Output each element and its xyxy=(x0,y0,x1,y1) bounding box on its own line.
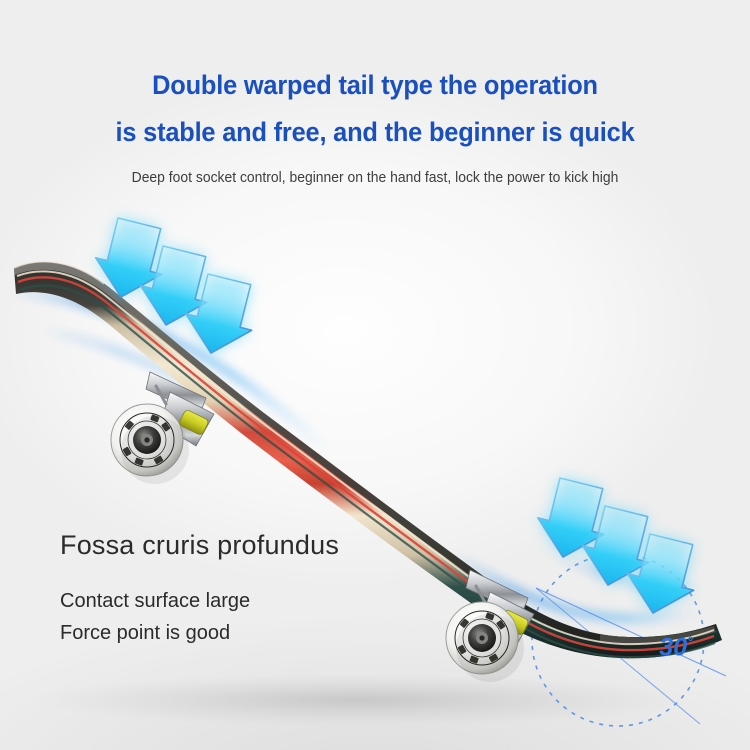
feature-title: Fossa cruris profundus xyxy=(60,530,339,561)
angle-annotation: 30° xyxy=(659,633,692,662)
ground-shadow xyxy=(30,674,690,726)
feature-bullet-2: Force point is good xyxy=(60,622,230,645)
headline-line-1: Double warped tail type the operation xyxy=(23,70,728,101)
product-feature-banner: Double warped tail type the operation is… xyxy=(0,0,750,750)
feature-bullet-1: Contact surface large xyxy=(60,590,250,613)
subheadline: Deep foot socket control, beginner on th… xyxy=(15,170,735,186)
angle-value: 30 xyxy=(659,634,687,662)
force-arrows-right xyxy=(530,475,704,621)
front-wheel-shading xyxy=(121,416,189,484)
rear-wheel-shading xyxy=(456,614,524,682)
headline-line-2: is stable and free, and the beginner is … xyxy=(23,117,728,148)
angle-unit: ° xyxy=(687,633,693,649)
